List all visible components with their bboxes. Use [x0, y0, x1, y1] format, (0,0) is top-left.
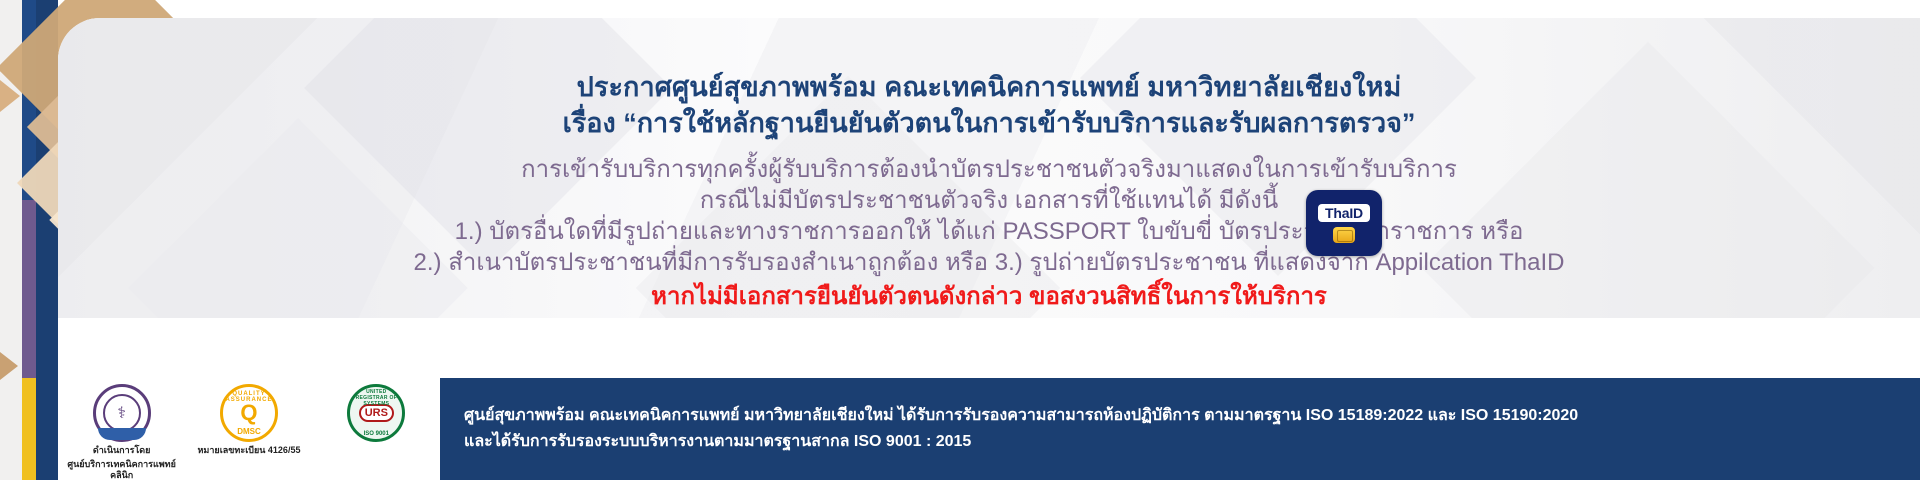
logo-item-dmsc: QUALITY ASSURANCE Q DMSC หมายเลขทะเบียน …	[189, 384, 309, 456]
medical-technology-council-seal-icon: ⚕	[93, 384, 151, 442]
dmsc-arc-top-text: QUALITY ASSURANCE	[223, 391, 275, 403]
dmsc-quality-assurance-seal-icon: QUALITY ASSURANCE Q DMSC	[220, 384, 278, 442]
council-emblem-glyph: ⚕	[103, 394, 141, 432]
announcement-body-line-2: กรณีไม่มีบัตรประชาชนตัวจริง เอกสารที่ใช้…	[58, 185, 1920, 216]
dmsc-arc-bottom-text: DMSC	[223, 427, 275, 436]
announcement-body-line-1: การเข้ารับบริการทุกครั้งผู้รับบริการต้อง…	[58, 140, 1920, 185]
footer-text-line-1: ศูนย์สุขภาพพร้อม คณะเทคนิคการแพทย์ มหาวิ…	[464, 403, 1920, 429]
logo-item-medical-council: ⚕ ดำเนินการโดย ศูนย์บริการเทคนิคการแพทย์…	[62, 384, 182, 481]
thaid-label: ThaID	[1318, 204, 1370, 222]
footer-accreditation-bar: ศูนย์สุขภาพพร้อม คณะเทคนิคการแพทย์ มหาวิ…	[440, 378, 1920, 480]
urs-iso-certification-seal-icon: UNITED REGISTRAR OF SYSTEMS URS ISO 9001	[347, 384, 405, 442]
certification-logos: ⚕ ดำเนินการโดย ศูนย์บริการเทคนิคการแพทย์…	[58, 378, 440, 480]
announcement-card: ประกาศศูนย์สุขภาพพร้อม คณะเทคนิคการแพทย์…	[58, 18, 1920, 318]
council-ribbon-shape	[98, 428, 146, 440]
id-card-chip-icon	[1333, 227, 1355, 243]
decorative-notch-bottom	[0, 352, 18, 380]
urs-arc-bottom-text: ISO 9001	[350, 431, 402, 437]
logo-caption-line-2: ศูนย์บริการเทคนิคการแพทย์คลินิก	[62, 459, 182, 481]
left-rail-navy-mid	[36, 200, 58, 378]
footer-text-line-2: และได้รับการรับรองระบบบริหารงานตามมาตรฐา…	[464, 429, 1920, 455]
announcement-title-line-1: ประกาศศูนย์สุขภาพพร้อม คณะเทคนิคการแพทย์…	[58, 28, 1920, 104]
urs-arc-top-text: UNITED REGISTRAR OF SYSTEMS	[350, 389, 402, 407]
announcement-banner: ประกาศศูนย์สุขภาพพร้อม คณะเทคนิคการแพทย์…	[0, 0, 1920, 480]
announcement-body-line-4: 2.) สำเนาบัตรประชาชนที่มีการรับรองสำเนาถ…	[58, 247, 1920, 278]
logo-caption-line-1: ดำเนินการโดย	[93, 445, 151, 456]
announcement-warning-text: หากไม่มีเอกสารยืนยันตัวตนดังกล่าว ขอสงวน…	[58, 278, 1920, 313]
logo-item-urs: UNITED REGISTRAR OF SYSTEMS URS ISO 9001	[316, 384, 436, 442]
thaid-logo-badge: ThaID	[1306, 190, 1382, 256]
dmsc-letter-q: Q	[240, 402, 257, 424]
announcement-body-line-3: 1.) บัตรอื่นใดที่มีรูปถ่ายและทางราชการออ…	[58, 216, 1920, 247]
announcement-title-line-2: เรื่อง “การใช้หลักฐานยืนยันตัวตนในการเข้…	[58, 104, 1920, 140]
accent-bar-purple	[22, 200, 36, 378]
dmsc-registration-number: หมายเลขทะเบียน 4126/55	[198, 445, 301, 456]
footer: ⚕ ดำเนินการโดย ศูนย์บริการเทคนิคการแพทย์…	[0, 378, 1920, 480]
